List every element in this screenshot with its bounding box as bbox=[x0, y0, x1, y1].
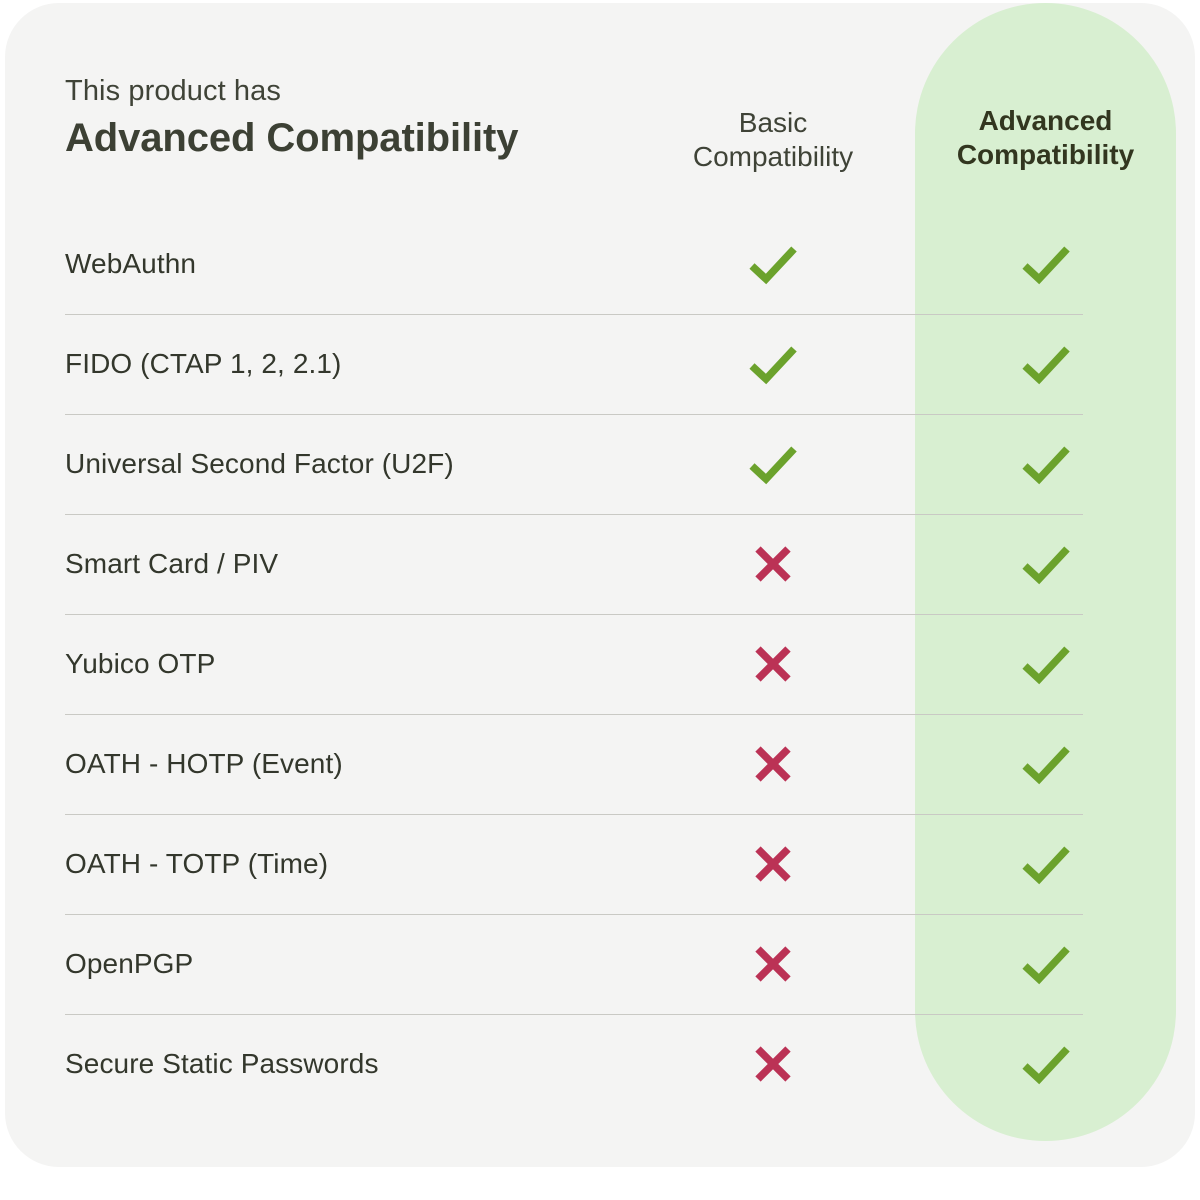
table-row: Secure Static Passwords bbox=[0, 1014, 1200, 1114]
table-row: Yubico OTP bbox=[0, 614, 1200, 714]
eyebrow-text: This product has bbox=[65, 74, 665, 108]
table-row: WebAuthn bbox=[0, 214, 1200, 314]
check-icon bbox=[1020, 242, 1072, 286]
feature-rows: WebAuthnFIDO (CTAP 1, 2, 2.1)Universal S… bbox=[0, 214, 1200, 1114]
compatibility-comparison-card: This product has Advanced Compatibility … bbox=[0, 0, 1200, 1200]
cell-basic-compatibility bbox=[640, 714, 906, 814]
check-icon bbox=[1020, 942, 1072, 986]
cross-icon bbox=[751, 642, 795, 686]
check-icon bbox=[1020, 1042, 1072, 1086]
feature-label: FIDO (CTAP 1, 2, 2.1) bbox=[65, 348, 341, 380]
cell-advanced-compatibility bbox=[915, 814, 1176, 914]
table-row: OATH - HOTP (Event) bbox=[0, 714, 1200, 814]
check-icon bbox=[1020, 542, 1072, 586]
cross-icon bbox=[751, 942, 795, 986]
column-header-advanced-line1: Advanced bbox=[979, 105, 1113, 136]
cross-icon bbox=[751, 1042, 795, 1086]
cross-icon bbox=[751, 742, 795, 786]
table-row: FIDO (CTAP 1, 2, 2.1) bbox=[0, 314, 1200, 414]
cell-basic-compatibility bbox=[640, 514, 906, 614]
column-header-basic: Basic Compatibility bbox=[640, 106, 906, 174]
check-icon bbox=[747, 242, 799, 286]
feature-label: Universal Second Factor (U2F) bbox=[65, 448, 454, 480]
table-row: Smart Card / PIV bbox=[0, 514, 1200, 614]
column-header-basic-line1: Basic bbox=[739, 107, 807, 138]
cell-advanced-compatibility bbox=[915, 1014, 1176, 1114]
cell-advanced-compatibility bbox=[915, 314, 1176, 414]
feature-label: Secure Static Passwords bbox=[65, 1048, 379, 1080]
table-row: Universal Second Factor (U2F) bbox=[0, 414, 1200, 514]
table-row: OATH - TOTP (Time) bbox=[0, 814, 1200, 914]
cell-advanced-compatibility bbox=[915, 614, 1176, 714]
title-block: This product has Advanced Compatibility bbox=[65, 74, 665, 162]
cell-advanced-compatibility bbox=[915, 514, 1176, 614]
cell-advanced-compatibility bbox=[915, 214, 1176, 314]
cell-basic-compatibility bbox=[640, 1014, 906, 1114]
cell-basic-compatibility bbox=[640, 814, 906, 914]
feature-label: Smart Card / PIV bbox=[65, 548, 278, 580]
check-icon bbox=[1020, 642, 1072, 686]
feature-label: OpenPGP bbox=[65, 948, 193, 980]
column-header-advanced-line2: Compatibility bbox=[915, 138, 1176, 172]
page-title: Advanced Compatibility bbox=[65, 114, 665, 162]
check-icon bbox=[1020, 842, 1072, 886]
cell-basic-compatibility bbox=[640, 914, 906, 1014]
column-header-basic-line2: Compatibility bbox=[640, 140, 906, 174]
check-icon bbox=[1020, 742, 1072, 786]
cell-basic-compatibility bbox=[640, 614, 906, 714]
check-icon bbox=[747, 342, 799, 386]
check-icon bbox=[1020, 442, 1072, 486]
feature-label: OATH - HOTP (Event) bbox=[65, 748, 343, 780]
table-row: OpenPGP bbox=[0, 914, 1200, 1014]
cell-basic-compatibility bbox=[640, 214, 906, 314]
check-icon bbox=[1020, 342, 1072, 386]
feature-label: WebAuthn bbox=[65, 248, 196, 280]
table-header: This product has Advanced Compatibility … bbox=[0, 0, 1200, 208]
cross-icon bbox=[751, 842, 795, 886]
cell-advanced-compatibility bbox=[915, 714, 1176, 814]
check-icon bbox=[747, 442, 799, 486]
cell-advanced-compatibility bbox=[915, 914, 1176, 1014]
cross-icon bbox=[751, 542, 795, 586]
cell-basic-compatibility bbox=[640, 314, 906, 414]
cell-basic-compatibility bbox=[640, 414, 906, 514]
card-content: This product has Advanced Compatibility … bbox=[0, 0, 1200, 1200]
feature-label: Yubico OTP bbox=[65, 648, 215, 680]
feature-label: OATH - TOTP (Time) bbox=[65, 848, 328, 880]
column-header-advanced: Advanced Compatibility bbox=[915, 104, 1176, 172]
cell-advanced-compatibility bbox=[915, 414, 1176, 514]
